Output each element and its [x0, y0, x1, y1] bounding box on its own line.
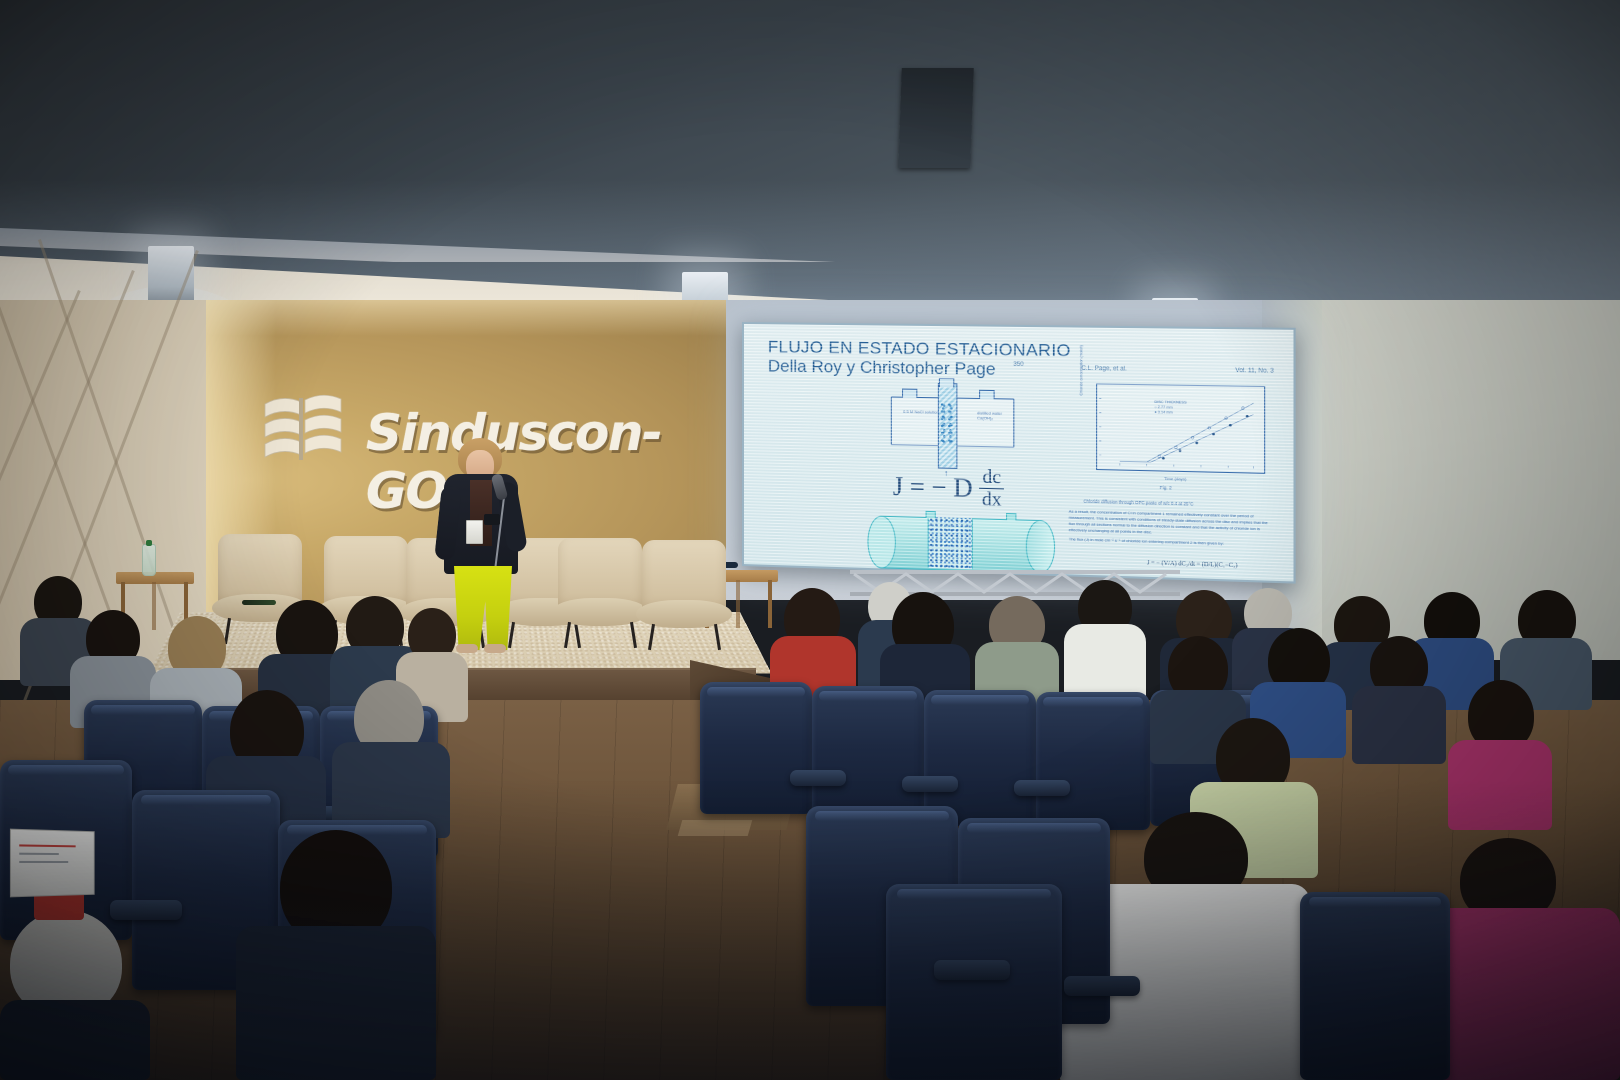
floor-plank-highlight [678, 820, 753, 836]
stage-armchair[interactable] [552, 538, 648, 650]
figure-caption: Chloride diffusion through OPC paste of … [1083, 499, 1193, 507]
chart-legend-item-2: 3.14 mm [1158, 411, 1173, 415]
projection-screen: FLUJO EN ESTADO ESTACIONARIO Della Roy y… [742, 322, 1296, 584]
attendee-dark-top [1352, 636, 1446, 764]
seat-armrest [902, 776, 958, 792]
presenter-shoe [484, 644, 506, 653]
chart-plot-area [1097, 384, 1264, 472]
slide-subtitle: Della Roy y Christopher Page [768, 356, 996, 379]
auditorium-seat[interactable] [700, 682, 812, 814]
auditorium-scene: Sinduscon-GO FLUJO EN ESTADO ESTACIONARI… [0, 0, 1620, 1080]
stage-armchair[interactable] [636, 540, 732, 652]
equation-denominator: dx [979, 489, 1005, 510]
attendee-dark-hair [236, 830, 436, 1080]
attendee-grey-hair [0, 900, 150, 1080]
attendee-grey-hair [332, 680, 450, 838]
stacked-wave-ribbon-icon [261, 388, 343, 474]
diffusion-cell-cylinder [864, 511, 1056, 574]
diffusion-chart: DISC THICKNESS ○ 2.77 mm ● 3.14 mm Chlor… [1067, 379, 1270, 497]
slide-body-text: As a result, the concentration of Cl in … [1069, 508, 1272, 551]
diffusion-apparatus-diagram: 0.5 M NaCl solution distilled water Ca(O… [885, 378, 1019, 462]
apparatus-label-right: distilled water Ca(OH)₂ [977, 410, 1019, 421]
seat-armrest [934, 960, 1010, 980]
chart-legend-item-1: 2.77 mm [1158, 405, 1173, 409]
seat-armrest [1064, 976, 1140, 996]
chart-legend: DISC THICKNESS ○ 2.77 mm ● 3.14 mm [1154, 400, 1186, 417]
auditorium-seat[interactable] [1300, 892, 1450, 1080]
water-bottle [142, 544, 156, 576]
laptop-screen[interactable] [10, 829, 95, 898]
name-badge [466, 520, 483, 544]
apparatus-label-left: 0.5 M NaCl solution [903, 409, 939, 415]
chart-x-axis-label: Time (days) [1164, 476, 1186, 482]
paper-header-left: C.L. Page, et al. [1081, 366, 1126, 373]
body-paragraph-1: As a result, the concentration of Cl in … [1069, 508, 1272, 539]
body-paragraph-2: The flux (J) in mole cm⁻² s⁻¹ of chlorid… [1069, 536, 1272, 548]
auditorium-seat[interactable] [812, 686, 924, 820]
ceiling-vent [898, 68, 973, 168]
ficks-law-equation: J = − D dc dx [893, 465, 1005, 509]
brand-wordmark: Sinduscon-GO [366, 404, 726, 520]
auditorium-seat[interactable] [1036, 692, 1150, 830]
equation-lhs: J = − D [893, 471, 973, 503]
auditorium-seat[interactable] [886, 884, 1062, 1080]
seat-armrest [1014, 780, 1070, 796]
slide-page-number: 350 [1013, 362, 1023, 368]
attendee-magenta-top [1448, 680, 1552, 830]
seat-armrest [790, 770, 846, 786]
slide-canvas: FLUJO EN ESTADO ESTACIONARIO Della Roy y… [744, 324, 1294, 581]
chart-y-axis-label: Chloride concentration (mole/l) [1079, 345, 1083, 395]
presenter-clicker [484, 514, 500, 525]
paper-header-right: Vol. 11, No. 3 [1235, 368, 1274, 375]
figure-label: Fig. 2 [1160, 485, 1172, 490]
attendee-white-polo [1064, 580, 1146, 702]
equation-numerator: dc [979, 467, 1004, 489]
